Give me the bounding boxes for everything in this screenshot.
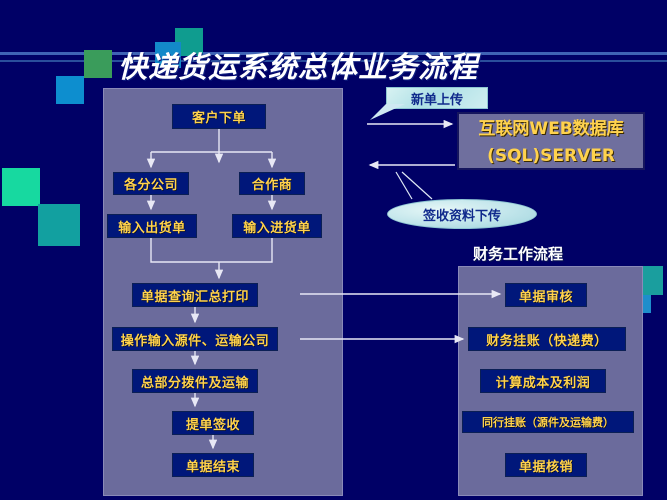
web-database-box: 互联网WEB数据库 (SQL)SERVER (457, 112, 645, 170)
flow-box-query-print: 单据查询汇总打印 (132, 283, 258, 307)
flow-box-operator-input: 操作输入源件、运输公司 (112, 327, 278, 351)
database-line-1: 互联网WEB数据库 (459, 116, 643, 143)
flow-box-peer-charge: 同行挂账（源件及运输费） (462, 411, 634, 433)
flow-box-input-outbound: 输入出货单 (107, 214, 197, 238)
green-square-left (84, 50, 112, 78)
flow-box-bill-audit: 单据审核 (505, 283, 587, 307)
flow-box-bill-signoff: 提单签收 (172, 411, 254, 435)
flow-box-customer-order: 客户下单 (172, 104, 266, 129)
flow-box-bill-finish: 单据结束 (172, 453, 254, 477)
teal-square-left2 (38, 204, 80, 246)
slide-canvas: 快递货运系统总体业务流程 财务工作流程 互联网WEB数据库 (SQL)SERVE… (0, 0, 667, 500)
blue-square-left (56, 76, 84, 104)
flow-box-finance-charge: 财务挂账（快递费） (468, 327, 626, 351)
flow-box-input-inbound: 输入进货单 (232, 214, 322, 238)
flow-box-bill-writeoff: 单据核销 (505, 453, 587, 477)
flow-box-partner: 合作商 (239, 172, 305, 195)
signed-data-download-ellipse: 签收资料下传 (387, 199, 537, 229)
page-title: 快递货运系统总体业务流程 (118, 44, 478, 86)
database-line-2: (SQL)SERVER (459, 143, 643, 170)
flow-box-branch-company: 各分公司 (113, 172, 189, 195)
flow-box-cost-profit: 计算成本及利润 (480, 369, 606, 393)
spring-square-left (2, 168, 40, 206)
flow-box-hq-dispatch: 总部分拨件及运输 (132, 369, 258, 393)
finance-section-label: 财务工作流程 (473, 243, 563, 264)
new-order-upload-callout: 新单上传 (386, 87, 488, 109)
